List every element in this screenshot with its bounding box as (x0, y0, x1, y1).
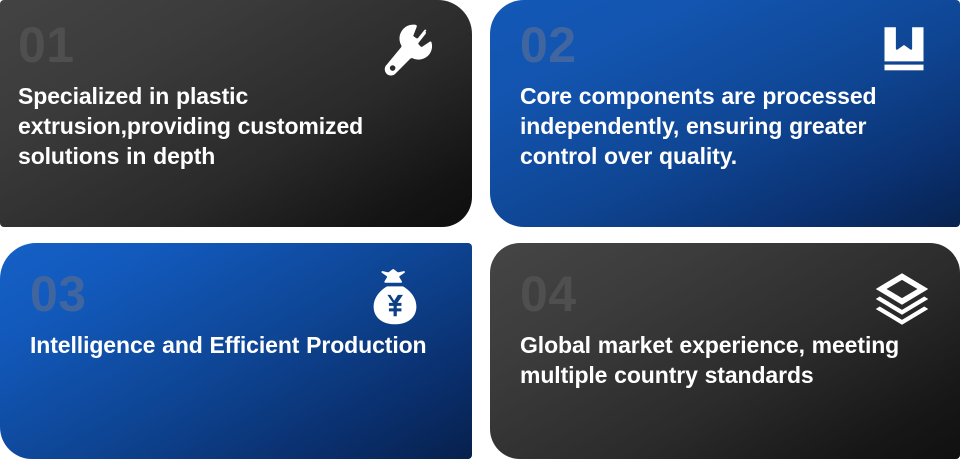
card-number-02: 02 (520, 20, 934, 70)
card-title-02: Core components are processed independen… (520, 82, 934, 172)
card-title-04: Global market experience, meeting multip… (520, 331, 910, 391)
card-number-04: 04 (520, 269, 934, 319)
money-bag-yen-icon (366, 269, 424, 327)
wrench-icon (382, 24, 436, 78)
feature-card-02[interactable]: 02 Core components are processed indepen… (490, 0, 960, 227)
card-title-01: Specialized in plastic extrusion,providi… (18, 82, 438, 172)
feature-card-01[interactable]: 01 Specialized in plastic extrusion,prov… (0, 0, 472, 227)
feature-card-04[interactable]: 04 Global market experience, meeting mul… (490, 243, 960, 459)
card-title-03: Intelligence and Efficient Production (30, 331, 430, 361)
layers-stack-icon (874, 271, 930, 327)
feature-card-03[interactable]: 03 Intelligence and Efficient Production (0, 243, 472, 459)
feature-card-grid: 01 Specialized in plastic extrusion,prov… (0, 0, 960, 459)
book-bookmark-icon (878, 24, 930, 76)
